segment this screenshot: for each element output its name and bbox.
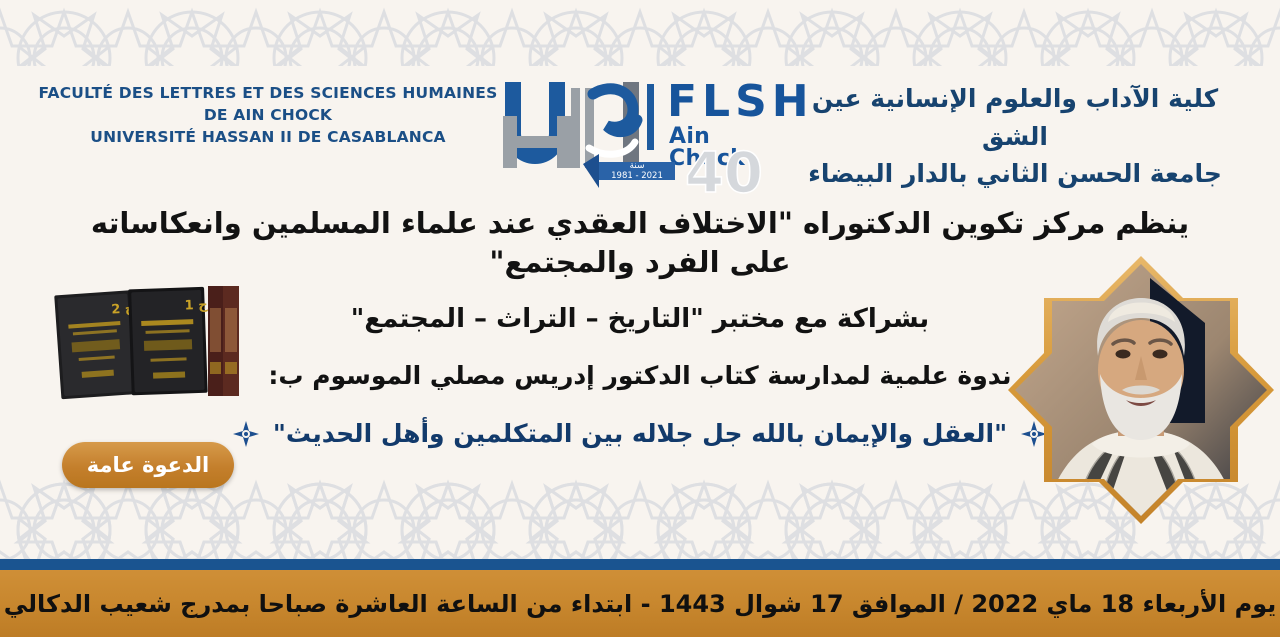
ornament-star-icon-left bbox=[233, 421, 259, 447]
islamic-pattern-top bbox=[0, 0, 1280, 66]
anniversary-40-emblem: سنة 1981 - 2021 40 bbox=[579, 134, 769, 196]
event-datetime-banner: يوم الأربعاء 18 ماي 2022 / الموافق 17 شو… bbox=[0, 570, 1280, 637]
flsh-logo: FLSH Ain Chock سنة 1981 - 2021 40 bbox=[497, 76, 787, 196]
institution-french-line-2: DE AIN CHOCK bbox=[38, 104, 498, 126]
institution-french-line-3: UNIVERSITÉ HASSAN II DE CASABLANCA bbox=[38, 126, 498, 148]
partnership-line: بشراكة مع مختبر "التاريخ – التراث – المج… bbox=[190, 282, 1090, 337]
anniversary-word: سنة bbox=[629, 161, 644, 171]
public-invitation-badge[interactable]: الدعوة عامة bbox=[62, 442, 234, 488]
speaker-portrait bbox=[1000, 248, 1280, 540]
institution-arabic-line-1: كلية الآداب والعلوم الإنسانية عين الشق bbox=[780, 80, 1250, 155]
anniversary-number: 40 bbox=[685, 141, 763, 196]
blue-divider-bar bbox=[0, 559, 1280, 570]
book-title: "العقل والإيمان بالله جل جلاله بين المتك… bbox=[273, 419, 1007, 448]
poster-header: FACULTÉ DES LETTRES ET DES SCIENCES HUMA… bbox=[0, 72, 1280, 182]
institution-french-line-1: FACULTÉ DES LETTRES ET DES SCIENCES HUMA… bbox=[38, 82, 498, 104]
institution-name-french: FACULTÉ DES LETTRES ET DES SCIENCES HUMA… bbox=[38, 82, 498, 148]
event-description-line: ندوة علمية لمدارسة كتاب الدكتور إدريس مص… bbox=[190, 337, 1090, 393]
event-datetime-text: يوم الأربعاء 18 ماي 2022 / الموافق 17 شو… bbox=[4, 590, 1277, 618]
public-invitation-label: الدعوة عامة bbox=[87, 453, 209, 477]
institution-arabic-line-2: جامعة الحسن الثاني بالدار البيضاء bbox=[780, 155, 1250, 193]
book-volumes-image: ج 2 ج 1 bbox=[52, 278, 242, 406]
poster-canvas: FACULTÉ DES LETTRES ET DES SCIENCES HUMA… bbox=[0, 0, 1280, 637]
anniversary-years: 1981 - 2021 bbox=[611, 171, 663, 181]
logo-title: FLSH bbox=[667, 80, 814, 124]
institution-name-arabic: كلية الآداب والعلوم الإنسانية عين الشق ج… bbox=[780, 80, 1250, 193]
book-title-row: "العقل والإيمان بالله جل جلاله بين المتك… bbox=[140, 419, 1140, 448]
volume-1-label: ج 1 bbox=[184, 298, 208, 314]
